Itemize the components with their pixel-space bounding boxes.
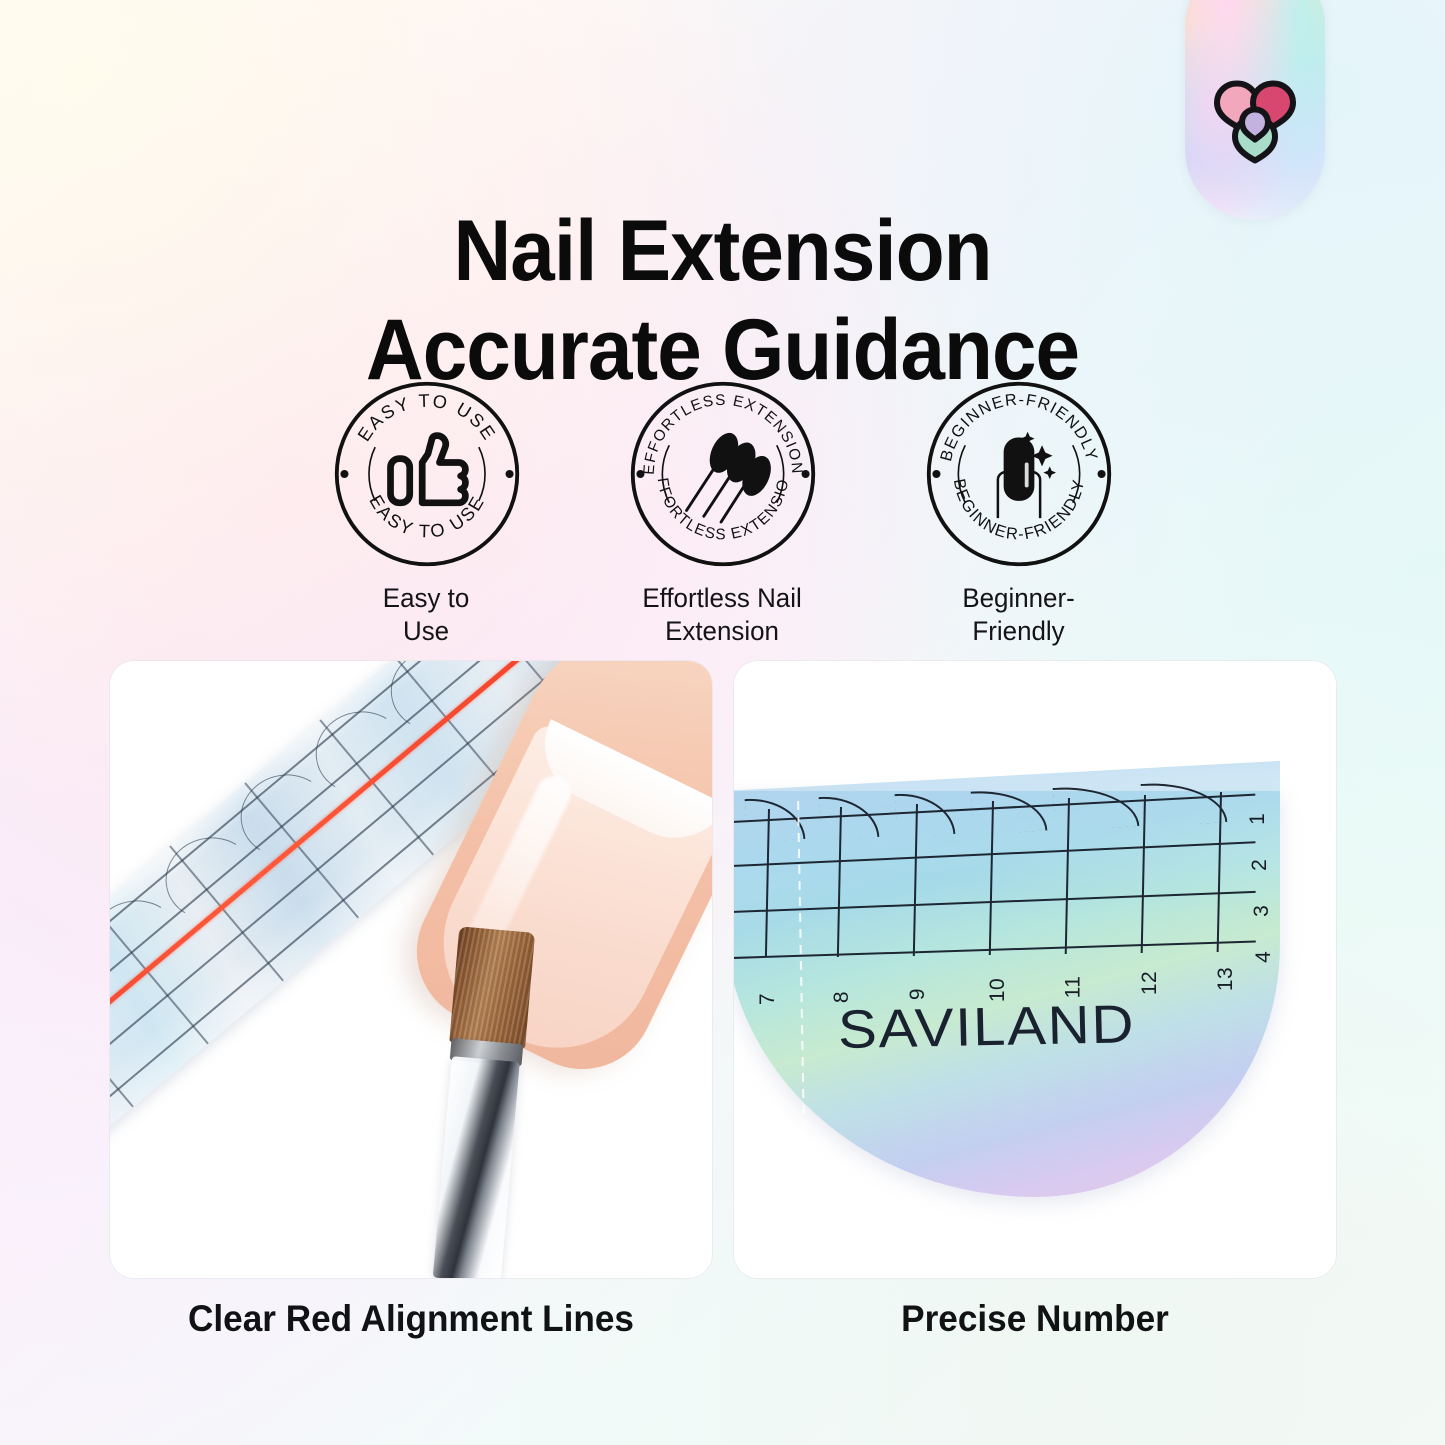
page-title: Nail Extension Accurate Guidance: [51, 202, 1395, 402]
brush-bristles: [449, 926, 535, 1048]
card-caption-row: Clear Red Alignment Lines Precise Number: [110, 1298, 1336, 1340]
photo-holographic-nail-form: 7 8 9 10 11 12 13 1 2 3 4 SAVILAND: [734, 661, 1336, 1278]
headline-line-1: Nail Extension: [453, 203, 991, 299]
easy-to-use-stamp-icon: EASY TO USE EASY TO USE: [331, 378, 523, 570]
feature-badge-row: EASY TO USE EASY TO USE Easy to Use: [0, 378, 1445, 648]
effortless-extension-stamp-icon: EFFORTLESS EXTENSION EFFORTLESS EXTENSIO…: [627, 378, 819, 570]
beginner-friendly-stamp-icon: BEGINNER-FRIENDLY BEGINNER-FRIENDLY: [923, 378, 1115, 570]
flower-heart-logo-icon: [1207, 76, 1303, 173]
ruler-number-13: 13: [1214, 967, 1238, 991]
form-blue-band: [734, 761, 1280, 937]
photo-nail-form-brush: [110, 661, 712, 1278]
badge-effortless-extension: EFFORTLESS EXTENSION EFFORTLESS EXTENSIO…: [624, 378, 822, 648]
badge-caption-effortless-extension: Effortless Nail Extension: [643, 582, 802, 648]
brush-handle: [433, 1056, 520, 1278]
ruler-vnumber-4: 4: [1252, 951, 1276, 963]
ruler-vnumber-3: 3: [1250, 905, 1274, 917]
holographic-form-sheet: 7 8 9 10 11 12 13 1 2 3 4 SAVILAND: [734, 791, 1280, 1197]
badge-easy-to-use: EASY TO USE EASY TO USE Easy to Use: [328, 378, 526, 648]
saviland-wordmark: SAVILAND: [837, 993, 1135, 1061]
caption-precise-number: Precise Number: [749, 1298, 1321, 1340]
badge-beginner-friendly: BEGINNER-FRIENDLY BEGINNER-FRIENDLY Begi…: [920, 378, 1118, 648]
brand-logo-chip: [1185, 0, 1325, 220]
photo-card-precise-number: 7 8 9 10 11 12 13 1 2 3 4 SAVILAND: [734, 661, 1336, 1278]
svg-text:EASY TO USE: EASY TO USE: [365, 491, 489, 541]
caption-clear-red-alignment-lines: Clear Red Alignment Lines: [125, 1298, 697, 1340]
ruler-number-7: 7: [756, 993, 780, 1005]
ruler-vnumber-2: 2: [1248, 859, 1272, 871]
badge-caption-beginner-friendly: Beginner- Friendly: [962, 582, 1074, 648]
badge-caption-easy-to-use: Easy to Use: [383, 582, 469, 648]
product-feature-banner: Nail Extension Accurate Guidance EASY TO…: [0, 0, 1445, 1445]
photo-card-alignment-lines: [110, 661, 712, 1278]
ruler-number-12: 12: [1138, 971, 1162, 995]
ruler-vnumber-1: 1: [1246, 813, 1270, 825]
photo-card-row: 7 8 9 10 11 12 13 1 2 3 4 SAVILAND: [110, 661, 1336, 1278]
